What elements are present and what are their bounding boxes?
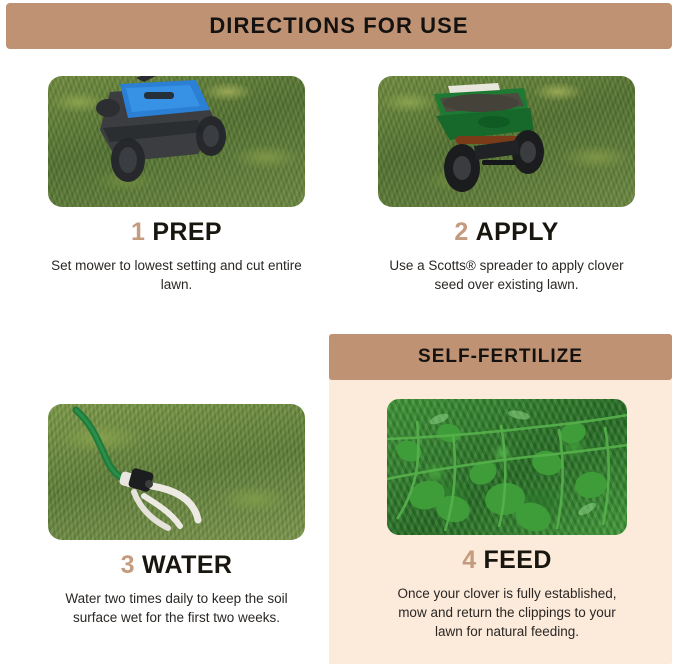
step-2-heading: 2APPLY: [378, 219, 635, 247]
directions-for-use-infographic: DIRECTIONS FOR USE SELF-FERTILIZE: [0, 0, 679, 672]
step-3-number: 3: [121, 551, 135, 579]
step-1-heading: 1PREP: [48, 219, 305, 247]
page-title: DIRECTIONS FOR USE: [209, 13, 468, 39]
step-1-number: 1: [131, 218, 145, 246]
step-4-number: 4: [462, 546, 476, 574]
step-4-photo-clover: [387, 399, 627, 535]
step-card-prep: 1PREP Set mower to lowest setting and cu…: [48, 76, 305, 294]
step-3-heading: 3WATER: [48, 552, 305, 580]
self-fertilize-title: SELF-FERTILIZE: [418, 346, 583, 368]
step-3-body: Water two times daily to keep the soil s…: [48, 589, 305, 627]
step-card-water: 3WATER Water two times daily to keep the…: [48, 404, 305, 627]
step-4-heading: 4FEED: [387, 547, 627, 575]
step-1-photo-mower: [48, 76, 305, 207]
step-2-number: 2: [454, 218, 468, 246]
step-2-photo-spreader: [378, 76, 635, 207]
step-2-name: APPLY: [476, 218, 559, 246]
step-3-photo-sprinkler: [48, 404, 305, 540]
step-1-body: Set mower to lowest setting and cut enti…: [48, 256, 305, 294]
step-4-name: FEED: [484, 546, 552, 574]
step-3-name: WATER: [142, 551, 232, 579]
self-fertilize-banner: SELF-FERTILIZE: [329, 334, 672, 380]
lawn-mower-icon: [48, 76, 305, 207]
step-2-body: Use a Scotts® spreader to apply clover s…: [378, 256, 635, 294]
step-1-name: PREP: [152, 218, 222, 246]
clover-leaves-icon: [387, 399, 627, 535]
step-card-feed: 4FEED Once your clover is fully establis…: [387, 399, 627, 641]
step-card-apply: 2APPLY Use a Scotts® spreader to apply c…: [378, 76, 635, 294]
fertilizer-spreader-icon: [378, 76, 635, 207]
directions-header-banner: DIRECTIONS FOR USE: [6, 3, 672, 49]
hose-sprinkler-icon: [48, 404, 305, 540]
step-4-body: Once your clover is fully established, m…: [387, 584, 627, 641]
